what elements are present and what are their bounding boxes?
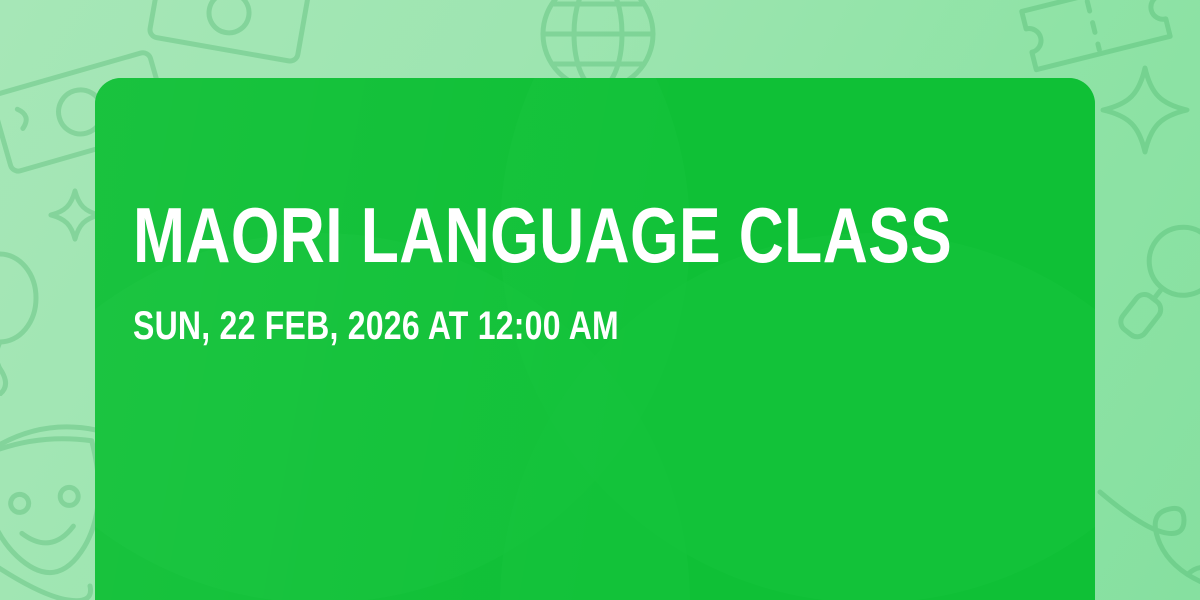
banknote-icon [140,0,320,78]
swirl-icon [1096,470,1200,600]
event-datetime: Sun, 22 Feb, 2026 at 12:00 AM [133,306,871,346]
event-title: Maori Language Class [133,198,871,272]
event-card[interactable]: Maori Language Class Sun, 22 Feb, 2026 a… [95,78,1095,600]
card-content: Maori Language Class Sun, 22 Feb, 2026 a… [133,198,1055,346]
balloon-icon [0,246,62,396]
ticket-icon [1010,0,1180,80]
microphone-icon [1115,218,1200,368]
event-poster: Maori Language Class Sun, 22 Feb, 2026 a… [0,0,1200,600]
